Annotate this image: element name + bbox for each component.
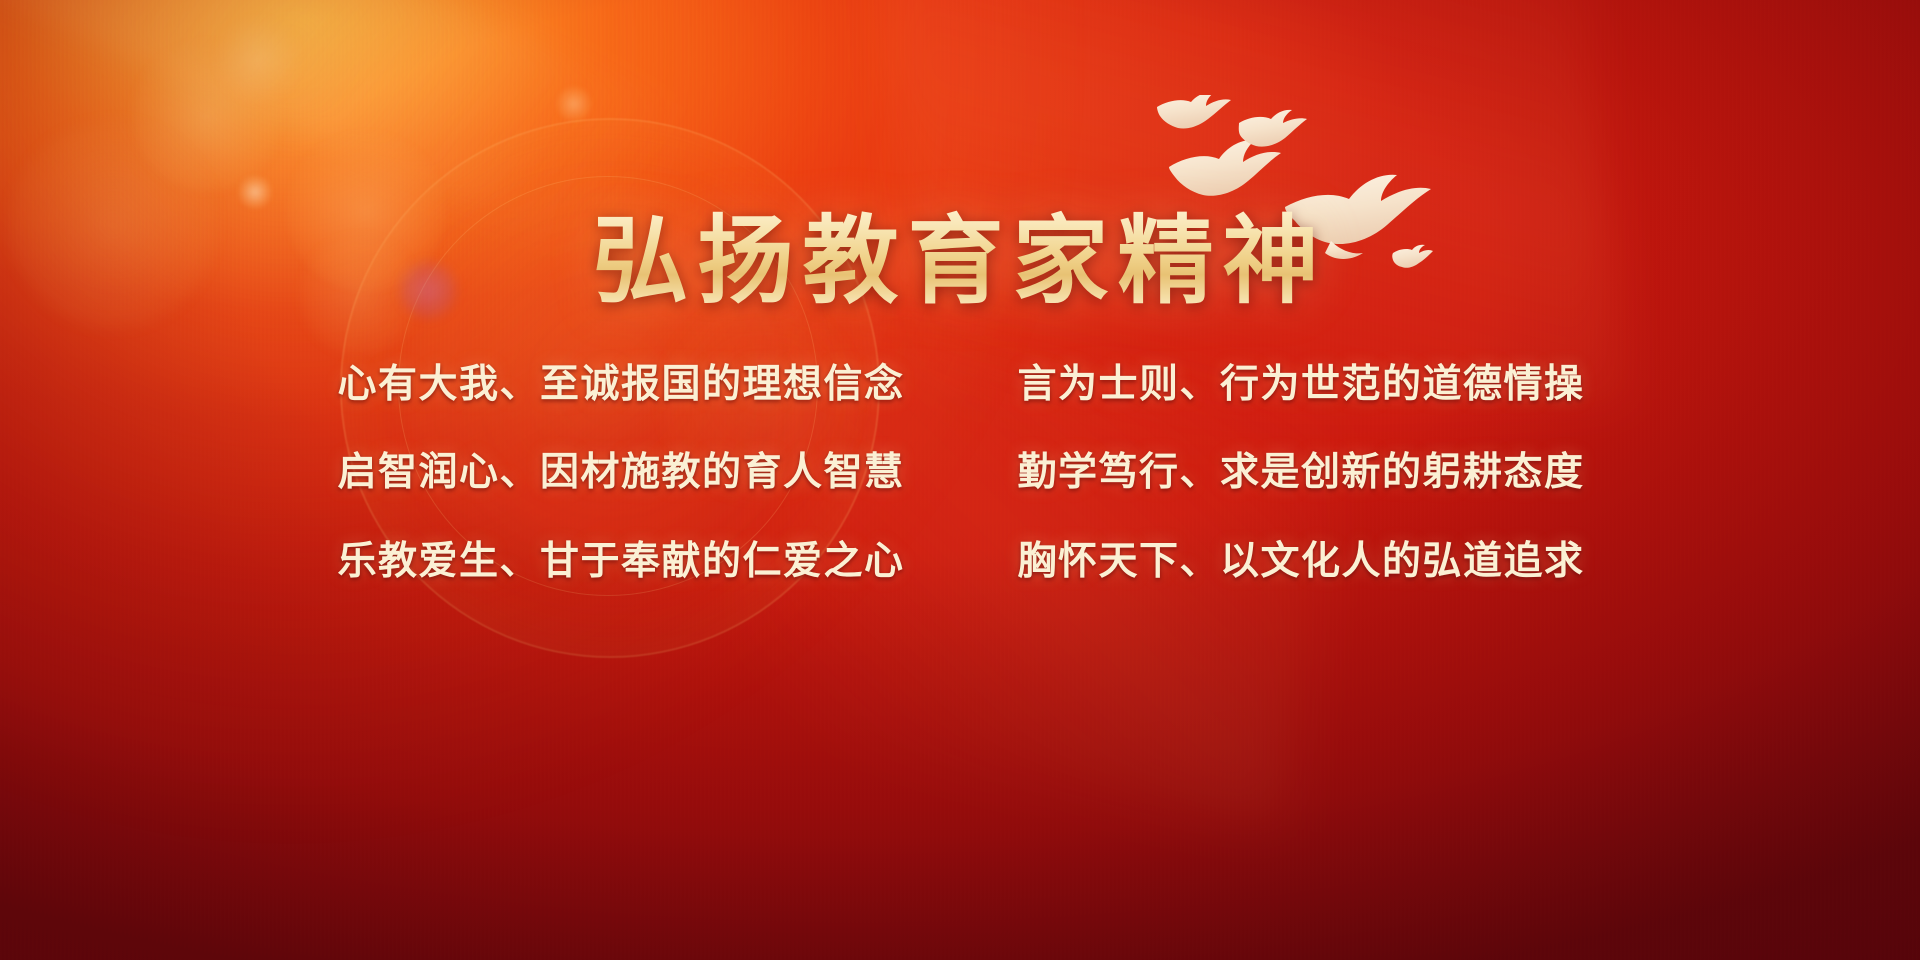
- slogan-item-5: 乐教爱生、甘于奉献的仁爱之心: [337, 537, 904, 588]
- slogan-item-2: 言为士则、行为世范的道德情操: [1017, 360, 1584, 411]
- slogan-grid: 心有大我、至诚报国的理想信念 言为士则、行为世范的道德情操 启智润心、因材施教的…: [300, 360, 1620, 588]
- slogan-item-1: 心有大我、至诚报国的理想信念: [337, 360, 904, 411]
- slogan-item-3: 启智润心、因材施教的育人智慧: [337, 448, 904, 499]
- educator-spirit-banner: 弘扬教育家精神 心有大我、至诚报国的理想信念 言为士则、行为世范的道德情操 启智…: [0, 0, 1920, 960]
- page-title: 弘扬教育家精神: [593, 208, 1328, 316]
- slogan-item-6: 胸怀天下、以文化人的弘道追求: [1017, 537, 1584, 588]
- slogan-item-4: 勤学笃行、求是创新的躬耕态度: [1017, 448, 1584, 499]
- banner-content: 弘扬教育家精神 心有大我、至诚报国的理想信念 言为士则、行为世范的道德情操 启智…: [0, 0, 1920, 960]
